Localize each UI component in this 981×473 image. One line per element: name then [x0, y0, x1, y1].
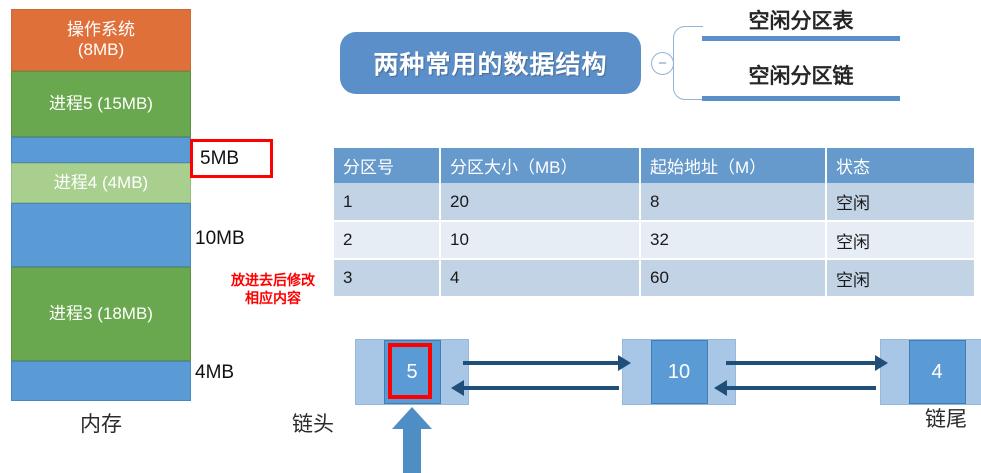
- table-cell: 1: [334, 183, 440, 221]
- memory-caption: 内存: [11, 408, 191, 438]
- minus-glyph: −: [658, 56, 667, 71]
- table-header-cell: 起始地址（M）: [640, 148, 826, 183]
- mindmap-branch-1[interactable]: [702, 36, 900, 41]
- table-header-row: 分区号 分区大小（MB） 起始地址（M） 状态: [334, 148, 974, 183]
- table-row: 2 10 32 空闲: [334, 221, 974, 259]
- node-prev-pointer-cell: [356, 340, 384, 404]
- mindmap-root-label: 两种常用的数据结构: [373, 45, 607, 81]
- size-label-4mb: 4MB: [195, 362, 234, 384]
- free-partition-linked-list: 5 10 4 链头 链尾: [330, 335, 981, 472]
- arrow-head: [392, 407, 432, 429]
- arrow-shaft: [403, 427, 421, 473]
- memory-block-free-5mb: [11, 137, 191, 163]
- prev-pointer-arrow-2-to-1: [463, 386, 619, 390]
- list-node-1-highlight-box: [388, 343, 432, 399]
- table-cell: 8: [640, 183, 826, 221]
- table-header-cell: 状态: [826, 148, 974, 183]
- memory-block-label: 进程4 (4MB): [54, 173, 148, 193]
- memory-block-free-4mb: [11, 361, 191, 401]
- memory-block-process4: 进程4 (4MB): [11, 163, 191, 203]
- table-cell: 20: [440, 183, 640, 221]
- table-cell: 空闲: [826, 259, 974, 297]
- table-cell: 10: [440, 221, 640, 259]
- table-row: 1 20 8 空闲: [334, 183, 974, 221]
- size-label-10mb: 10MB: [195, 228, 245, 250]
- node-next-pointer-cell: [966, 340, 981, 404]
- memory-block-os: 操作系统 (8MB): [11, 9, 191, 71]
- table-cell: 4: [440, 259, 640, 297]
- table-cell: 2: [334, 221, 440, 259]
- table-header-cell: 分区号: [334, 148, 440, 183]
- node-value-cell: 4: [909, 340, 966, 404]
- memory-block-free-10mb: [11, 203, 191, 267]
- size-label-5mb: 5MB: [193, 148, 239, 170]
- next-pointer-arrow-1-to-2: [463, 361, 619, 365]
- table-cell: 空闲: [826, 183, 974, 221]
- table-row: 3 4 60 空闲: [334, 259, 974, 297]
- branch-underline: [702, 36, 900, 41]
- annotation-note: 放进去后修改 相应内容: [213, 272, 333, 308]
- table-header-cell: 分区大小（MB）: [440, 148, 640, 183]
- table-cell: 60: [640, 259, 826, 297]
- memory-block-label: 进程5 (15MB): [49, 94, 153, 114]
- minus-icon[interactable]: −: [651, 52, 674, 75]
- prev-pointer-arrow-3-to-2: [726, 386, 876, 390]
- node-value-cell: 10: [651, 340, 708, 404]
- table-cell: 空闲: [826, 221, 974, 259]
- list-head-label: 链头: [292, 408, 334, 438]
- node-prev-pointer-cell: [881, 340, 909, 404]
- table-cell: 32: [640, 221, 826, 259]
- next-pointer-arrow-2-to-3: [726, 361, 876, 365]
- free-partition-table: 分区号 分区大小（MB） 起始地址（M） 状态 1 20 8 空闲 2 10 3…: [334, 148, 974, 298]
- mindmap: 两种常用的数据结构 − 空闲分区表 空闲分区链: [340, 2, 900, 122]
- memory-block-process5: 进程5 (15MB): [11, 71, 191, 137]
- up-arrow-icon: [392, 407, 432, 473]
- mindmap-branch-label-1: 空闲分区表: [702, 5, 900, 35]
- size-label-5mb-highlight-box: 5MB: [190, 139, 273, 178]
- list-tail-label: 链尾: [925, 403, 967, 433]
- mindmap-bracket: [673, 26, 703, 100]
- memory-layout-column: 操作系统 (8MB) 进程5 (15MB) 进程4 (4MB) 进程3 (18M…: [11, 9, 191, 401]
- node-prev-pointer-cell: [623, 340, 651, 404]
- table-cell: 3: [334, 259, 440, 297]
- mindmap-branch-2[interactable]: [702, 96, 900, 101]
- branch-underline: [702, 96, 900, 101]
- memory-block-process3: 进程3 (18MB): [11, 267, 191, 361]
- mindmap-branch-label-2: 空闲分区链: [702, 60, 900, 90]
- mindmap-root-node[interactable]: 两种常用的数据结构: [340, 32, 641, 94]
- memory-block-label: 操作系统 (8MB): [67, 20, 135, 60]
- list-node-3: 4: [880, 339, 981, 405]
- memory-block-label: 进程3 (18MB): [49, 304, 153, 324]
